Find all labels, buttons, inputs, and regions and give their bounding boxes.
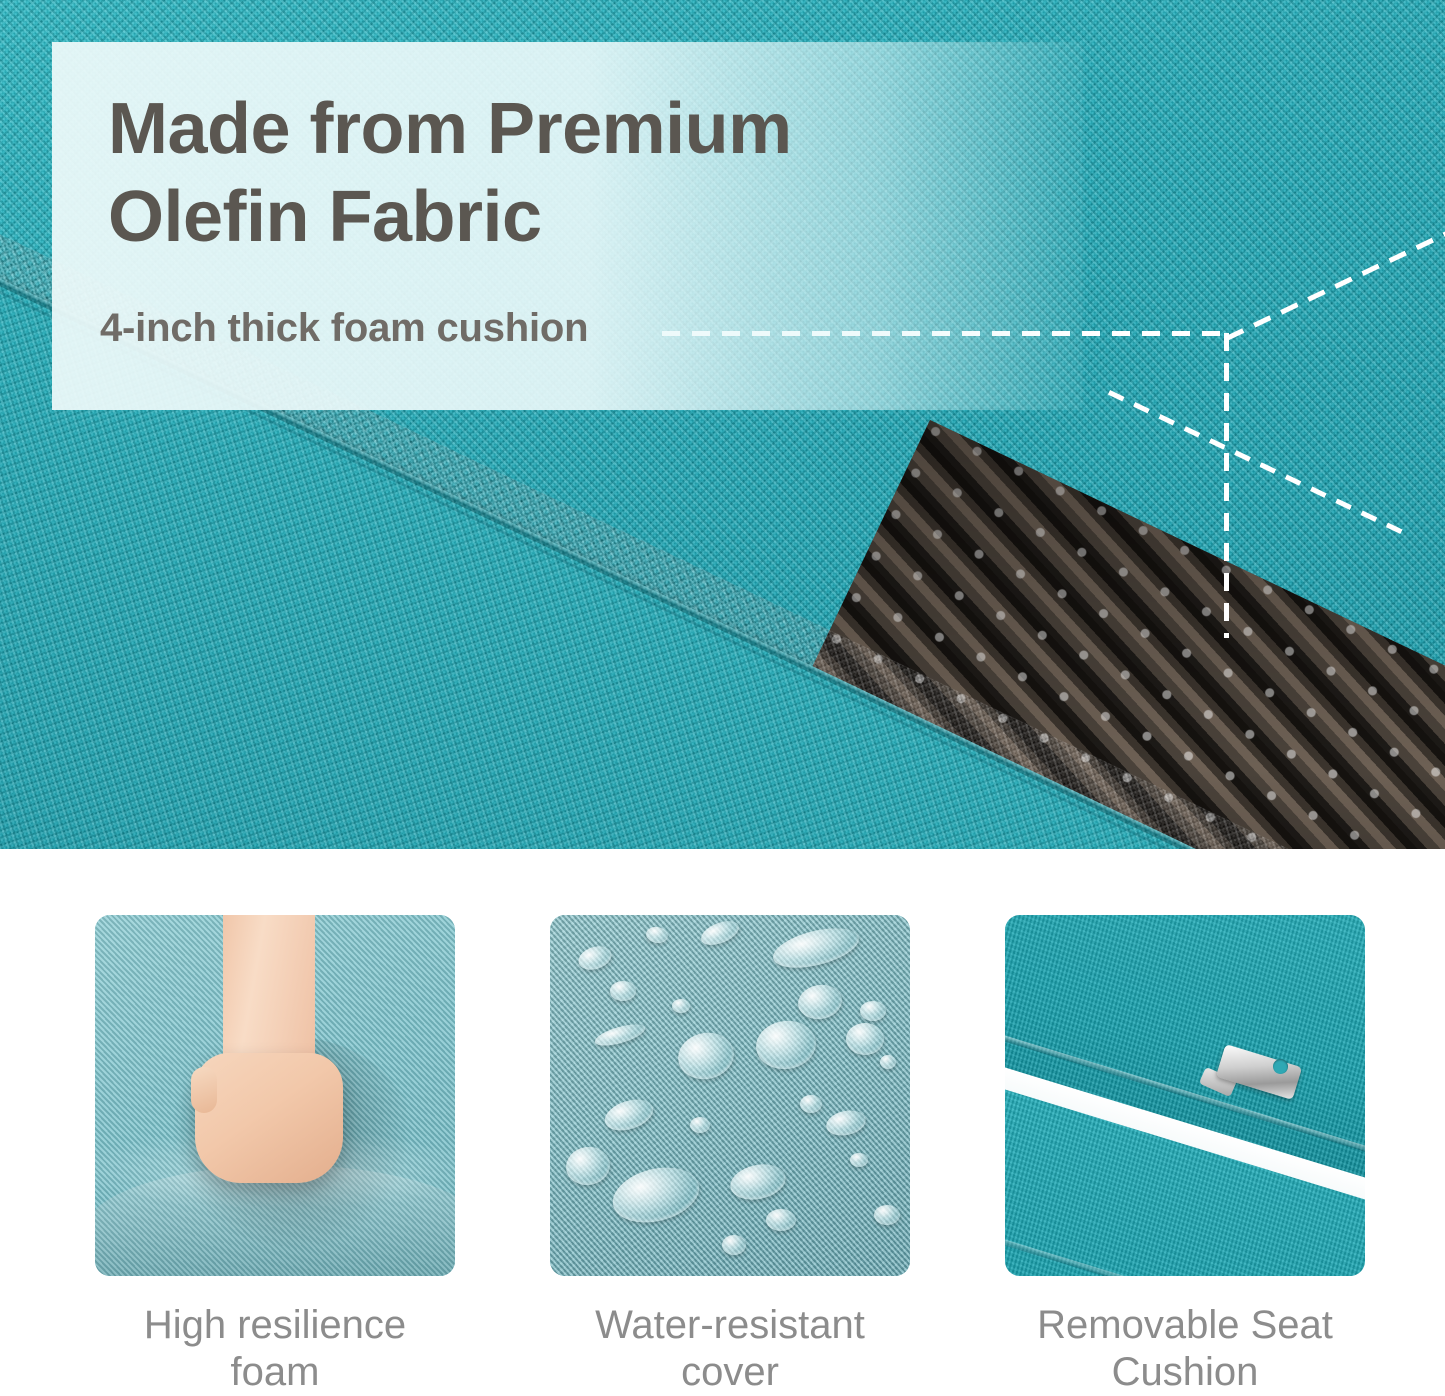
water-droplet <box>610 981 636 1001</box>
caption-line-1: High resilience <box>95 1302 455 1349</box>
water-droplet <box>766 1209 796 1231</box>
feature-caption-zipper: Removable Seat Cushion <box>1005 1302 1365 1396</box>
water-droplet <box>874 1205 900 1225</box>
headline-line-2: Olefin Fabric <box>108 174 1048 262</box>
feature-thumbnail-zipper <box>1005 915 1365 1276</box>
caption-line-2: foam <box>95 1349 455 1396</box>
product-feature-page: Made from Premium Olefin Fabric 4-inch t… <box>0 0 1445 1387</box>
feature-caption-water: Water-resistant cover <box>550 1302 910 1396</box>
water-droplet <box>800 1095 822 1113</box>
water-droplet <box>846 1023 884 1055</box>
hero-image: Made from Premium Olefin Fabric 4-inch t… <box>0 0 1445 849</box>
caption-line-1: Removable Seat <box>1005 1302 1365 1349</box>
feature-card-high-resilience-foam: High resilience foam <box>95 915 455 1396</box>
dashed-guide-vertical <box>1224 333 1229 638</box>
water-droplet <box>850 1153 868 1167</box>
feature-thumbnail-foam <box>95 915 455 1276</box>
water-droplet <box>672 999 690 1013</box>
page-title: Made from Premium Olefin Fabric <box>108 86 1048 262</box>
knuckle <box>191 1067 217 1113</box>
caption-line-1: Water-resistant <box>550 1302 910 1349</box>
water-droplet <box>880 1055 896 1069</box>
feature-thumbnail-water <box>550 915 910 1276</box>
water-droplet <box>690 1117 710 1133</box>
feature-card-water-resistant-cover: Water-resistant cover <box>550 915 910 1396</box>
feature-card-removable-seat-cushion: Removable Seat Cushion <box>1005 915 1365 1396</box>
water-droplet <box>722 1235 746 1255</box>
fist <box>195 1053 343 1183</box>
feature-cards-section: High resilience foam Water-resistant cov… <box>0 849 1445 1387</box>
subheadline: 4-inch thick foam cushion <box>100 306 588 351</box>
headline-line-1: Made from Premium <box>108 89 792 169</box>
water-droplet <box>860 1001 886 1021</box>
caption-line-2: cover <box>550 1349 910 1396</box>
caption-line-2: Cushion <box>1005 1349 1365 1396</box>
water-cover-weave-texture <box>550 915 910 1276</box>
feature-caption-foam: High resilience foam <box>95 1302 455 1396</box>
